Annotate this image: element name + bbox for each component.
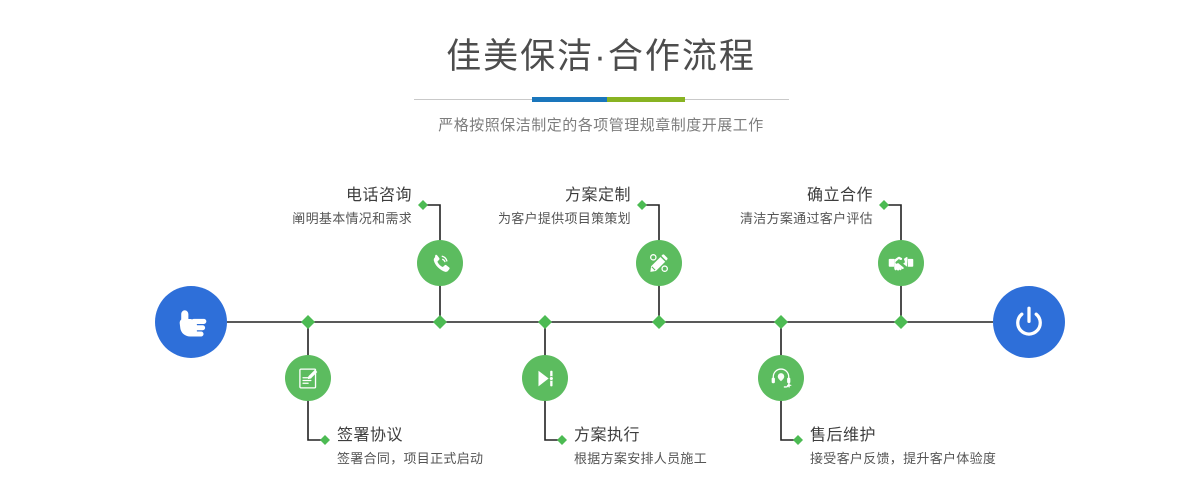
step-label-bottom-3: 售后维护 接受客户反馈，提升客户体验度 bbox=[810, 426, 996, 469]
pointing-hand-icon bbox=[170, 301, 212, 343]
label-diamond-top-2 bbox=[637, 200, 647, 210]
step-title-top-3: 确立合作 bbox=[740, 186, 873, 206]
power-icon bbox=[1009, 302, 1049, 342]
step-icon-bottom-1[interactable] bbox=[285, 355, 331, 401]
step-title-top-1: 电话咨询 bbox=[292, 186, 412, 206]
flow-diagram: 电话咨询 阐明基本情况和需求 方案定制 为客户提供项目策策划 确立合作 清洁方案… bbox=[0, 0, 1202, 502]
step-icon-bottom-3[interactable] bbox=[758, 355, 804, 401]
label-diamond-top-3 bbox=[879, 200, 889, 210]
label-diamond-bottom-2 bbox=[557, 435, 567, 445]
step-desc-top-2: 为客户提供项目策策划 bbox=[498, 209, 631, 229]
step-icon-top-3[interactable] bbox=[878, 240, 924, 286]
step-title-top-2: 方案定制 bbox=[498, 186, 631, 206]
timeline-diamond-6 bbox=[894, 315, 908, 329]
timeline-diamond-4 bbox=[652, 315, 666, 329]
step-label-bottom-1: 签署协议 签署合同，项目正式启动 bbox=[337, 426, 483, 469]
label-diamond-bottom-1 bbox=[320, 435, 330, 445]
timeline-diamond-2 bbox=[433, 315, 447, 329]
flow-end-endpoint[interactable] bbox=[993, 286, 1065, 358]
phone-call-icon bbox=[427, 250, 453, 276]
timeline-diamond-5 bbox=[774, 315, 788, 329]
process-flow-infographic: 佳美保洁·合作流程 严格按照保洁制定的各项管理规章制度开展工作 bbox=[0, 0, 1202, 502]
step-label-bottom-2: 方案执行 根据方案安排人员施工 bbox=[574, 426, 707, 469]
flow-start-endpoint[interactable] bbox=[155, 286, 227, 358]
label-diamond-top-1 bbox=[418, 200, 428, 210]
play-execute-icon bbox=[533, 366, 558, 391]
step-desc-top-1: 阐明基本情况和需求 bbox=[292, 209, 412, 229]
step-title-bottom-2: 方案执行 bbox=[574, 426, 707, 446]
step-desc-bottom-3: 接受客户反馈，提升客户体验度 bbox=[810, 449, 996, 469]
step-label-top-2: 方案定制 为客户提供项目策策划 bbox=[498, 186, 631, 229]
step-desc-bottom-1: 签署合同，项目正式启动 bbox=[337, 449, 483, 469]
handshake-icon bbox=[887, 249, 915, 277]
timeline-diamond-1 bbox=[301, 315, 315, 329]
step-label-top-3: 确立合作 清洁方案通过客户评估 bbox=[740, 186, 873, 229]
step-desc-top-3: 清洁方案通过客户评估 bbox=[740, 209, 873, 229]
step-label-top-1: 电话咨询 阐明基本情况和需求 bbox=[292, 186, 412, 229]
pencil-design-icon bbox=[646, 250, 672, 276]
step-desc-bottom-2: 根据方案安排人员施工 bbox=[574, 449, 707, 469]
step-title-bottom-1: 签署协议 bbox=[337, 426, 483, 446]
step-icon-top-2[interactable] bbox=[636, 240, 682, 286]
step-title-bottom-3: 售后维护 bbox=[810, 426, 996, 446]
step-icon-top-1[interactable] bbox=[417, 240, 463, 286]
document-sign-icon bbox=[296, 366, 321, 391]
timeline-diamond-3 bbox=[538, 315, 552, 329]
step-icon-bottom-2[interactable] bbox=[522, 355, 568, 401]
support-headset-plus-icon bbox=[768, 365, 794, 391]
label-diamond-bottom-3 bbox=[793, 435, 803, 445]
